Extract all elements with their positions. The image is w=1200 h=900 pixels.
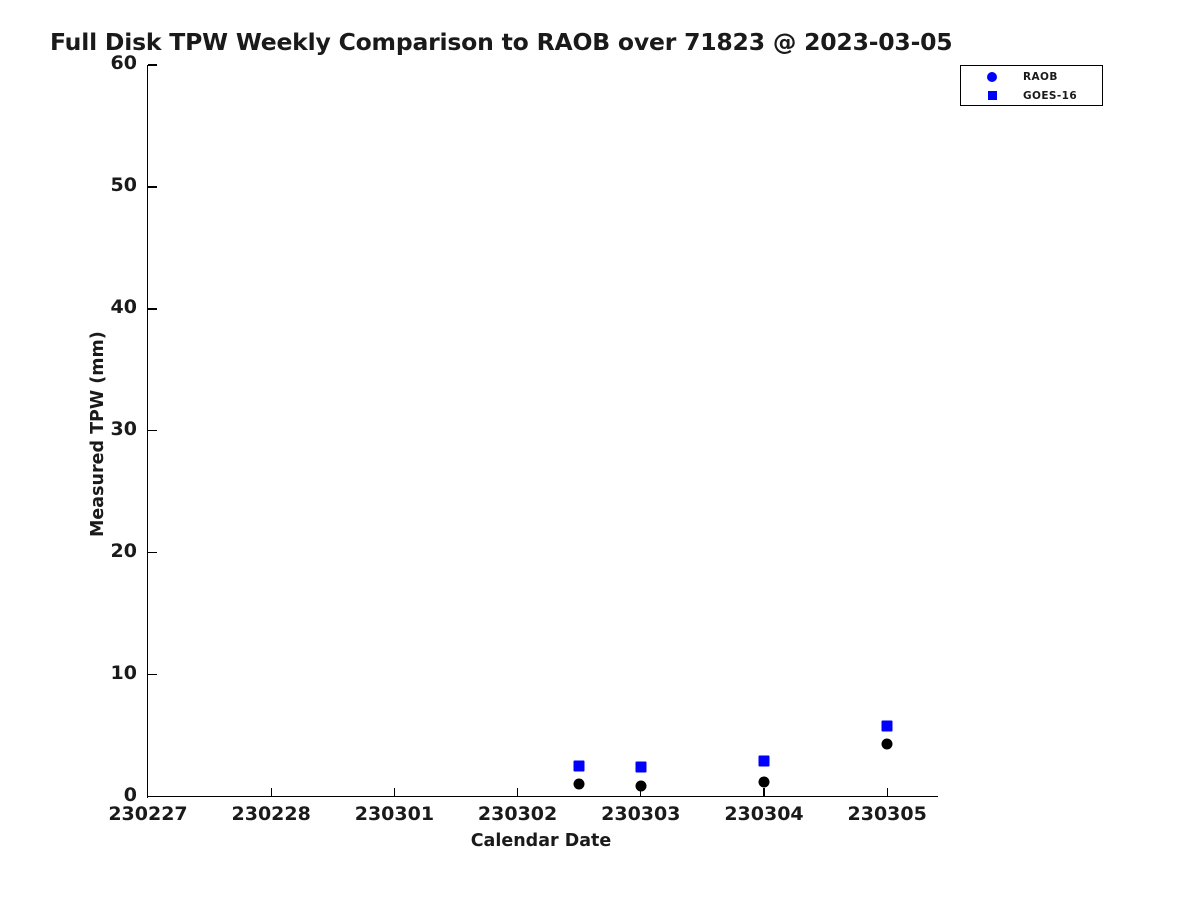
x-tick-label: 230304 bbox=[724, 803, 803, 825]
y-tick-label: 40 bbox=[85, 296, 137, 318]
y-tick-label: 60 bbox=[85, 52, 137, 74]
data-point-raob bbox=[635, 780, 646, 791]
y-tick-label: 20 bbox=[85, 540, 137, 562]
circle-marker-icon bbox=[987, 72, 997, 82]
data-point-raob bbox=[882, 739, 893, 750]
legend-label-raob: RAOB bbox=[1023, 71, 1058, 83]
legend-entry-goes16: GOES-16 bbox=[961, 86, 1102, 105]
legend-marker-cell-raob bbox=[961, 72, 1023, 82]
legend-entry-raob: RAOB bbox=[961, 67, 1102, 86]
legend-marker-cell-goes16 bbox=[961, 91, 1023, 100]
x-tick-label: 230302 bbox=[478, 803, 557, 825]
y-tick-label: 50 bbox=[85, 174, 137, 196]
x-tick-label: 230228 bbox=[232, 803, 311, 825]
data-point-goes-16 bbox=[574, 761, 585, 772]
data-point-raob bbox=[759, 776, 770, 787]
chart-figure: Full Disk TPW Weekly Comparison to RAOB … bbox=[0, 0, 1200, 900]
legend-box: RAOB GOES-16 bbox=[960, 65, 1103, 106]
x-tick-label: 230301 bbox=[355, 803, 434, 825]
x-tick-label: 230305 bbox=[848, 803, 927, 825]
data-point-raob bbox=[574, 779, 585, 790]
y-tick-label: 10 bbox=[85, 662, 137, 684]
square-marker-icon bbox=[988, 91, 997, 100]
chart-title: Full Disk TPW Weekly Comparison to RAOB … bbox=[50, 28, 952, 56]
data-point-goes-16 bbox=[882, 720, 893, 731]
data-point-goes-16 bbox=[759, 756, 770, 767]
x-tick-label: 230227 bbox=[108, 803, 187, 825]
plot-area bbox=[148, 65, 938, 797]
x-axis-title: Calendar Date bbox=[0, 831, 1082, 851]
legend-label-goes16: GOES-16 bbox=[1023, 90, 1077, 102]
y-axis-title: Measured TPW (mm) bbox=[88, 331, 108, 537]
data-point-goes-16 bbox=[635, 762, 646, 773]
x-tick-label: 230303 bbox=[601, 803, 680, 825]
